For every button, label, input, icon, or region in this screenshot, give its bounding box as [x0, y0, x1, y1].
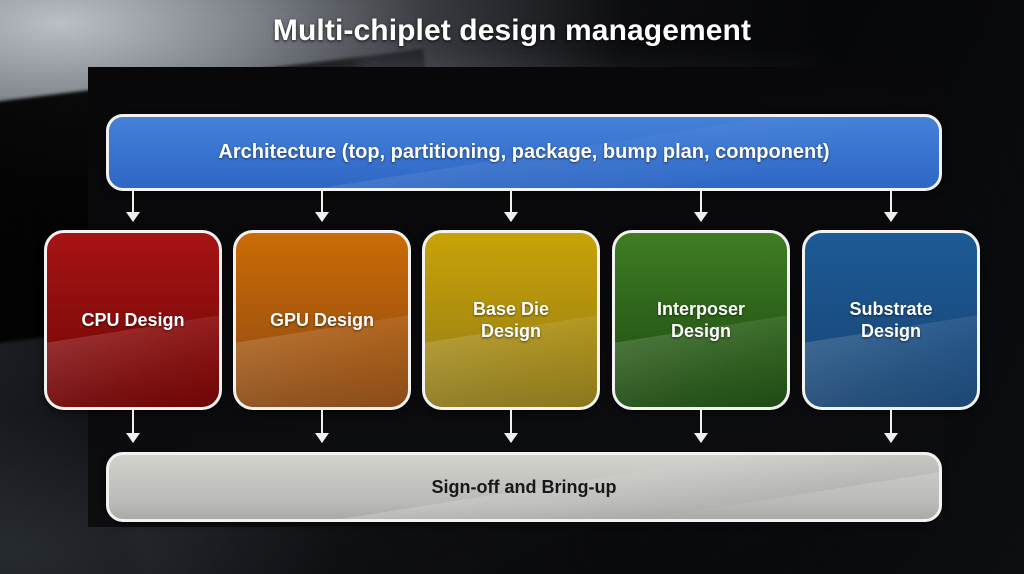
architecture-label: Architecture (top, partitioning, package… [210, 140, 837, 165]
slide-canvas: Multi-chiplet design management Architec… [0, 0, 1024, 574]
stage-label-line-1: Interposer [657, 299, 745, 319]
arrow-head-icon [126, 212, 140, 222]
arrow-interposer-to-signoff [694, 410, 708, 442]
stage-label-base-die-design: Base Die Design [465, 298, 557, 343]
stage-label-substrate-design: Substrate Design [841, 298, 940, 343]
slide-title: Multi-chiplet design management [0, 14, 1024, 48]
arrow-arch-to-interposer [694, 191, 708, 221]
stage-label-cpu-design: CPU Design [73, 309, 192, 332]
arrow-head-icon [694, 212, 708, 222]
arrow-gpu-to-signoff [315, 410, 329, 442]
arrow-arch-to-gpu [315, 191, 329, 221]
arrow-head-icon [694, 433, 708, 443]
stage-label-interposer-design: Interposer Design [649, 298, 753, 343]
arrow-head-icon [315, 433, 329, 443]
arrow-head-icon [315, 212, 329, 222]
stage-label-line-2: Design [671, 321, 731, 341]
stage-label-line-2: Design [861, 321, 921, 341]
arrow-arch-to-base-die [504, 191, 518, 221]
arrow-head-icon [884, 433, 898, 443]
signoff-box[interactable]: Sign-off and Bring-up [106, 452, 942, 522]
arrow-head-icon [126, 433, 140, 443]
stage-label-line-1: Substrate [849, 299, 932, 319]
stage-label-gpu-design: GPU Design [262, 309, 382, 332]
stage-box-base-die-design[interactable]: Base Die Design [422, 230, 600, 410]
arrow-head-icon [504, 433, 518, 443]
stage-box-substrate-design[interactable]: Substrate Design [802, 230, 980, 410]
stage-box-interposer-design[interactable]: Interposer Design [612, 230, 790, 410]
architecture-box[interactable]: Architecture (top, partitioning, package… [106, 114, 942, 191]
arrow-head-icon [884, 212, 898, 222]
arrow-arch-to-substrate [884, 191, 898, 221]
arrow-cpu-to-signoff [126, 410, 140, 442]
stage-box-gpu-design[interactable]: GPU Design [233, 230, 411, 410]
arrow-head-icon [504, 212, 518, 222]
stage-label-line-2: Design [481, 321, 541, 341]
stage-label-line-1: Base Die [473, 299, 549, 319]
arrow-substrate-to-signoff [884, 410, 898, 442]
arrow-base-die-to-signoff [504, 410, 518, 442]
arrow-arch-to-cpu [126, 191, 140, 221]
stage-box-cpu-design[interactable]: CPU Design [44, 230, 222, 410]
signoff-label: Sign-off and Bring-up [424, 476, 625, 499]
